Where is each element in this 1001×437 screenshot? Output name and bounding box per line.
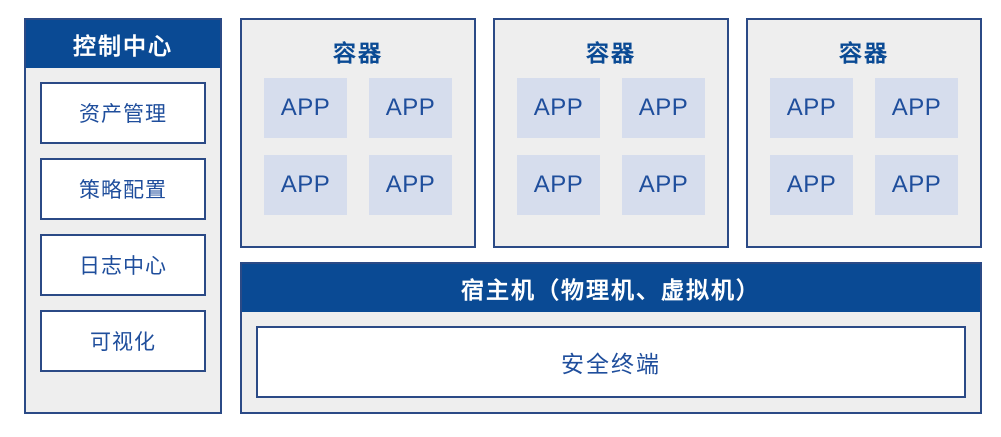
app-box[interactable]: APP	[264, 78, 347, 138]
app-box[interactable]: APP	[264, 155, 347, 215]
app-box[interactable]: APP	[369, 78, 452, 138]
menu-item-asset-management[interactable]: 资产管理	[40, 82, 206, 144]
secure-terminal-box[interactable]: 安全终端	[256, 326, 966, 398]
host-machine-title: 宿主机（物理机、虚拟机）	[242, 264, 980, 312]
host-machine-body: 安全终端	[242, 312, 980, 412]
menu-item-log-center[interactable]: 日志中心	[40, 234, 206, 296]
control-center-menu: 资产管理 策略配置 日志中心 可视化	[26, 68, 220, 412]
app-box[interactable]: APP	[622, 155, 705, 215]
app-box[interactable]: APP	[875, 155, 958, 215]
app-grid-1: APP APP APP APP	[242, 78, 474, 215]
container-title-3: 容器	[748, 20, 980, 78]
app-box[interactable]: APP	[517, 78, 600, 138]
app-grid-3: APP APP APP APP	[748, 78, 980, 215]
container-panel-3: 容器 APP APP APP APP	[746, 18, 982, 248]
control-center-title: 控制中心	[26, 20, 220, 68]
app-box[interactable]: APP	[770, 78, 853, 138]
app-grid-2: APP APP APP APP	[495, 78, 727, 215]
app-box[interactable]: APP	[875, 78, 958, 138]
app-box[interactable]: APP	[770, 155, 853, 215]
container-panel-2: 容器 APP APP APP APP	[493, 18, 729, 248]
app-box[interactable]: APP	[369, 155, 452, 215]
container-title-1: 容器	[242, 20, 474, 78]
app-box[interactable]: APP	[622, 78, 705, 138]
menu-item-policy-configuration[interactable]: 策略配置	[40, 158, 206, 220]
control-center-panel: 控制中心 资产管理 策略配置 日志中心 可视化	[24, 18, 222, 414]
container-panel-1: 容器 APP APP APP APP	[240, 18, 476, 248]
architecture-diagram: 控制中心 资产管理 策略配置 日志中心 可视化 容器 APP APP APP A…	[0, 0, 1001, 437]
app-box[interactable]: APP	[517, 155, 600, 215]
container-title-2: 容器	[495, 20, 727, 78]
menu-item-visualization[interactable]: 可视化	[40, 310, 206, 372]
host-machine-panel: 宿主机（物理机、虚拟机） 安全终端	[240, 262, 982, 414]
